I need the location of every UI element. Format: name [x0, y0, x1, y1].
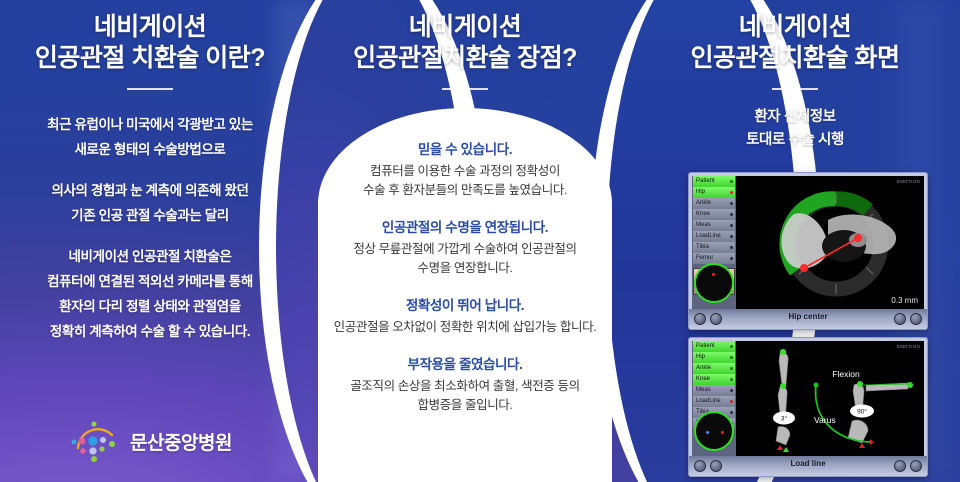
status-dot-icon: [730, 213, 733, 216]
screen-menu-list: Patient Hip Ankle Knee Meas LoadLine Tib…: [692, 176, 736, 309]
dot-cluster-arc-logo-icon: [68, 418, 120, 464]
panel-what-is-navigation: 네비게이션 인공관절 치환술 이란? 최근 유럽이나 미국에서 각광받고 있는 …: [0, 0, 300, 482]
menu-label: Meas: [696, 222, 711, 228]
menu-item-ankle[interactable]: Ankle: [693, 198, 735, 209]
status-dot-icon: [730, 224, 733, 227]
status-dot-icon: [730, 180, 733, 183]
menu-label: LoadLine: [696, 233, 721, 239]
menu-label: Ankle: [696, 365, 711, 371]
page-title: 네비게이션 인공관절치환술 화면: [630, 12, 960, 74]
menu-label: Hip: [696, 189, 705, 195]
infographic-stage: 네비게이션 인공관절 치환술 이란? 최근 유럽이나 미국에서 각광받고 있는 …: [0, 0, 960, 482]
benefit-line: 정상 무릎관절에 가깝게 수술하여 인공관절의: [312, 240, 618, 259]
panel3-subtitle: 환자 신체정보 토대로 수술 시행: [630, 106, 960, 152]
list-item: 부작용을 줄였습니다. 골조직의 손상을 최소화하여 출혈, 색전증 등의 합병…: [312, 353, 618, 415]
hospital-name: 문산중앙병원: [130, 428, 232, 455]
menu-label: Knee: [696, 376, 710, 382]
screen-canvas: Patient Hip Ankle Knee Meas LoadLine Tib…: [692, 176, 924, 309]
play-button[interactable]: [894, 460, 906, 472]
title-divider-rule: [127, 88, 173, 90]
benefit-heading: 인공관절의 수명을 연장됩니다.: [312, 216, 618, 236]
list-item: 정확성이 뛰어 납니다. 인공관절을 오차없이 정확한 위치에 삽입가능 합니다…: [312, 294, 618, 337]
panel3-title-line1: 네비게이션: [739, 13, 852, 41]
menu-label: LoadLine: [696, 398, 721, 404]
svg-text:90°: 90°: [857, 408, 867, 416]
panel1-p2-l2: 기존 인공 관절 수술과는 달리: [0, 203, 300, 228]
panel1-p3-l2: 컴퓨터에 연결된 적외선 카메라를 통해: [0, 269, 300, 294]
navigation-screenshot-load-line: Patient Hip Ankle Knee Meas LoadLine Tib…: [688, 337, 928, 477]
flexion-label: Flexion: [832, 369, 860, 379]
svg-text:3°: 3°: [781, 415, 788, 423]
panel1-title-line1: 네비게이션: [94, 13, 207, 41]
navigation-screenshot-hip-center: Patient Hip Ankle Knee Meas LoadLine Tib…: [688, 172, 928, 330]
panel1-p3-l4: 정확히 계측하여 수술 할 수 있습니다.: [0, 319, 300, 344]
leg-alignment-graphic: 3° 90°: [736, 341, 924, 456]
menu-item-femur[interactable]: Femur: [693, 253, 735, 264]
screen-menu-list: Patient Hip Ankle Knee Meas LoadLine Tib…: [692, 341, 736, 456]
menu-item-patient[interactable]: Patient: [693, 176, 735, 187]
status-dot-icon: [730, 235, 733, 238]
title-divider-rule: [442, 88, 488, 90]
menu-label: Ankle: [696, 200, 711, 206]
benefit-heading: 정확성이 뛰어 납니다.: [312, 294, 618, 314]
advantages-card: 믿을 수 있습니다. 컴퓨터를 이용한 수술 과정의 정확성이 수술 후 환자분…: [318, 108, 612, 482]
screen-canvas: Patient Hip Ankle Knee Meas LoadLine Tib…: [692, 341, 924, 456]
stop-button[interactable]: [894, 313, 906, 325]
panel3-title-line2: 인공관절치환술 화면: [630, 43, 960, 74]
screen-toolbar: Load line: [689, 456, 927, 476]
menu-item-tibia[interactable]: Tibia: [693, 242, 735, 253]
benefit-line: 합병증을 줄입니다.: [312, 396, 618, 415]
menu-label: Meas: [696, 387, 711, 393]
status-dot-icon: [730, 411, 733, 414]
list-item: 인공관절의 수명을 연장됩니다. 정상 무릎관절에 가깝게 수술하여 인공관절의…: [312, 216, 618, 278]
panel1-p2-l1: 의사의 경험과 눈 계측에 의존해 왔던: [0, 178, 300, 203]
advantages-list: 믿을 수 있습니다. 컴퓨터를 이용한 수술 과정의 정확성이 수술 후 환자분…: [312, 138, 618, 431]
menu-label: Hip: [696, 354, 705, 360]
menu-label: Tibia: [696, 244, 709, 250]
hospital-logo: 문산중앙병원: [0, 418, 300, 464]
tracker-view-thumbnail: [694, 263, 734, 303]
panel3-subtitle-line2: 토대로 수술 시행: [630, 129, 960, 152]
screen-toolbar: Hip center: [689, 309, 927, 329]
status-dot-icon: [730, 345, 733, 348]
hip-anatomy-graphic: [736, 176, 924, 309]
benefit-line: 수명을 연장합니다.: [312, 259, 618, 278]
panel1-p1-l2: 새로운 형태의 수술방법으로: [0, 137, 300, 162]
status-dot-icon: [730, 356, 733, 359]
benefit-heading: 믿을 수 있습니다.: [312, 138, 618, 158]
menu-item-knee[interactable]: Knee: [693, 209, 735, 220]
title-divider-rule: [772, 88, 818, 90]
panel2-title-line2: 인공관절치환술 장점?: [300, 43, 630, 74]
varus-label: Varus: [814, 415, 836, 425]
benefit-heading: 부작용을 줄였습니다.: [312, 353, 618, 373]
status-dot-icon: [730, 378, 733, 381]
menu-item-hip[interactable]: Hip: [693, 352, 735, 363]
panel-advantages: 네비게이션 인공관절치환술 장점? 믿을 수 있습니다. 컴퓨터를 이용한 수술…: [300, 0, 630, 482]
menu-item-ankle[interactable]: Ankle: [693, 363, 735, 374]
next-button[interactable]: [910, 313, 922, 325]
menu-item-loadline[interactable]: LoadLine: [693, 396, 735, 407]
menu-item-meas[interactable]: Meas: [693, 220, 735, 231]
menu-label: Knee: [696, 211, 710, 217]
panel-navigation-screens: 네비게이션 인공관절치환술 화면 환자 신체정보 토대로 수술 시행 Patie…: [630, 0, 960, 482]
menu-item-patient[interactable]: Patient: [693, 341, 735, 352]
panel1-body: 최근 유럽이나 미국에서 각광받고 있는 새로운 형태의 수술방법으로 의사의 …: [0, 112, 300, 344]
measurement-readout: 0.3 mm: [891, 296, 918, 305]
benefit-line: 인공관절을 오차없이 정확한 위치에 삽입가능 합니다.: [312, 318, 618, 337]
benefit-line: 골조직의 손상을 최소화하여 출혈, 색전증 등의: [312, 377, 618, 396]
panel1-p1-l1: 최근 유럽이나 미국에서 각광받고 있는: [0, 112, 300, 137]
list-item: 믿을 수 있습니다. 컴퓨터를 이용한 수술 과정의 정확성이 수술 후 환자분…: [312, 138, 618, 200]
panel3-subtitle-line1: 환자 신체정보: [630, 106, 960, 129]
page-title: 네비게이션 인공관절 치환술 이란?: [0, 12, 300, 74]
benefit-line: 컴퓨터를 이용한 수술 과정의 정확성이: [312, 162, 618, 181]
menu-label: Patient: [696, 343, 715, 349]
next-button[interactable]: [910, 460, 922, 472]
menu-item-loadline[interactable]: LoadLine: [693, 231, 735, 242]
panel1-p3-l3: 환자의 다리 정렬 상태와 관절염을: [0, 294, 300, 319]
page-title: 네비게이션 인공관절치환술 장점?: [300, 12, 630, 74]
menu-label: Patient: [696, 178, 715, 184]
status-dot-icon: [730, 389, 733, 392]
menu-label: Femur: [696, 255, 713, 261]
status-dot-icon: [730, 257, 733, 260]
status-dot-icon: [730, 400, 733, 403]
screen-step-label: Load line: [689, 459, 927, 468]
benefit-line: 수술 후 환자분들의 만족도를 높였습니다.: [312, 181, 618, 200]
tracker-view-thumbnail: [694, 411, 734, 451]
status-dot-icon: [730, 202, 733, 205]
status-dot-icon: [730, 246, 733, 249]
status-dot-icon: [730, 191, 733, 194]
panel1-p3-l1: 네비게이션 인공관절 치환술은: [0, 244, 300, 269]
panel2-title-line1: 네비게이션: [409, 13, 522, 41]
menu-item-knee[interactable]: Knee: [693, 374, 735, 385]
menu-item-hip[interactable]: Hip: [693, 187, 735, 198]
menu-item-meas[interactable]: Meas: [693, 385, 735, 396]
status-dot-icon: [730, 367, 733, 370]
screen-step-label: Hip center: [689, 312, 927, 321]
panel1-title-line2: 인공관절 치환술 이란?: [0, 43, 300, 74]
